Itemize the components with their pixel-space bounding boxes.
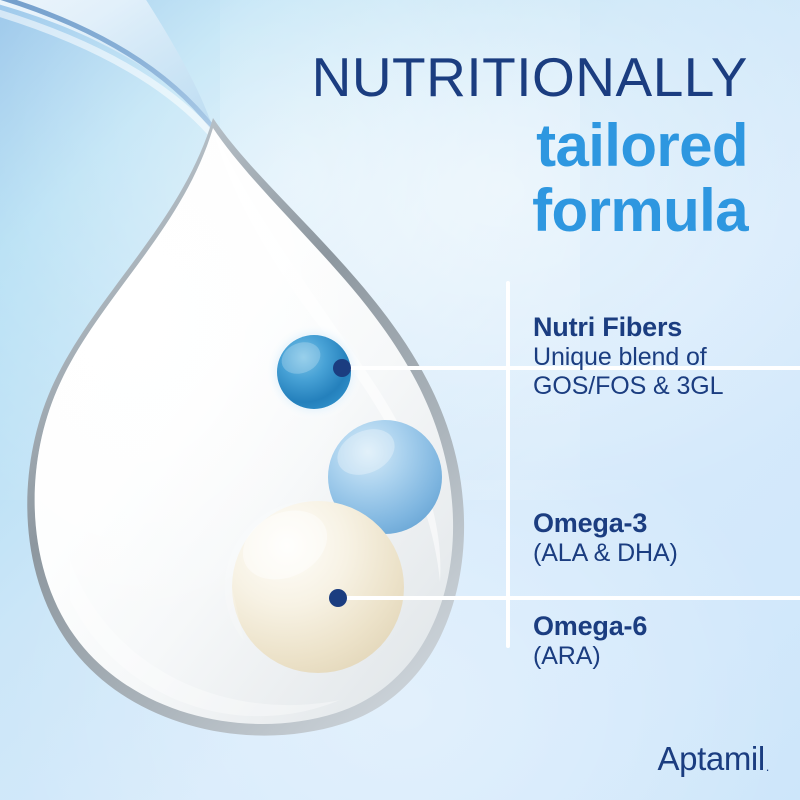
droplet-stem	[0, 0, 222, 146]
callout-omega-6: Omega-6 (ARA)	[533, 611, 647, 671]
brand-registered-mark: .	[766, 759, 769, 774]
callout-omega-6-sub-1: (ARA)	[533, 642, 647, 671]
headline: NUTRITIONALLY tailored formula	[312, 50, 748, 241]
callout-nutri-fibers-title: Nutri Fibers	[533, 312, 723, 343]
nutri-fibers-dot	[333, 359, 351, 377]
callout-omega-6-title: Omega-6	[533, 611, 647, 642]
callout-nutri-fibers-sub-1: Unique blend of	[533, 343, 723, 372]
omega-dot	[329, 589, 347, 607]
headline-line-3: formula	[312, 181, 748, 241]
brand-logo: Aptamil.	[658, 740, 768, 778]
headline-line-2: tailored	[312, 116, 748, 176]
callout-omega-3-title: Omega-3	[533, 508, 678, 539]
callout-omega-3-sub-1: (ALA & DHA)	[533, 539, 678, 568]
callout-nutri-fibers-sub-2: GOS/FOS & 3GL	[533, 372, 723, 401]
advertisement-canvas: NUTRITIONALLY tailored formula Nutri Fib…	[0, 0, 800, 800]
brand-name: Aptamil	[658, 740, 765, 777]
callout-omega-3: Omega-3 (ALA & DHA)	[533, 508, 678, 568]
headline-line-1: NUTRITIONALLY	[312, 50, 748, 105]
callout-nutri-fibers: Nutri Fibers Unique blend of GOS/FOS & 3…	[533, 312, 723, 401]
